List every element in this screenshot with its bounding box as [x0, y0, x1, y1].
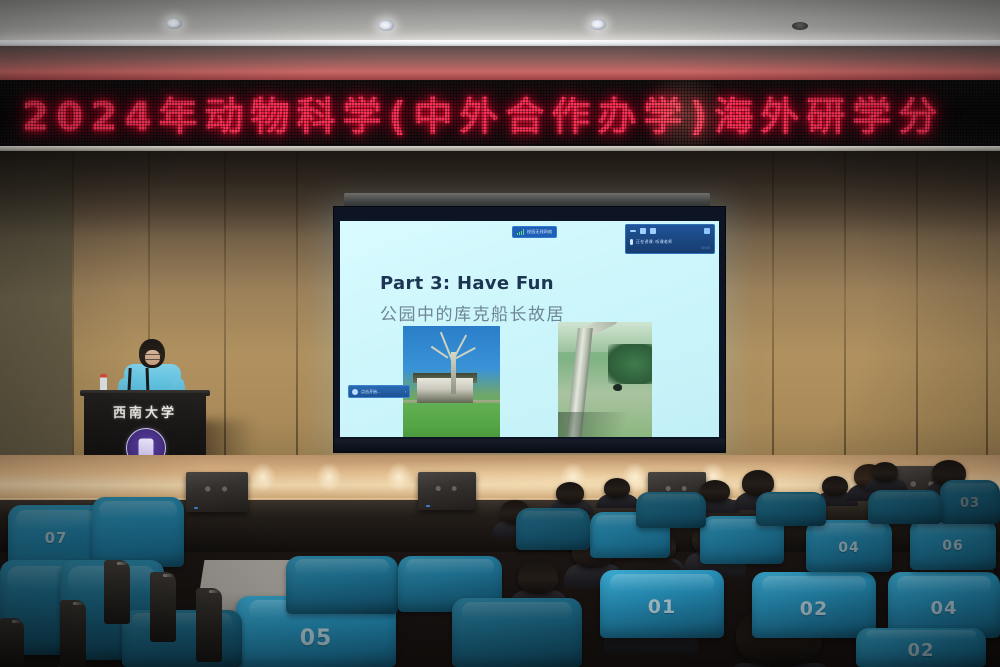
seat-number: 02	[856, 640, 986, 661]
meeting-control-panel[interactable]: 正在讲课: 听课老师 00:00	[625, 224, 715, 254]
seat-armrest	[150, 572, 176, 642]
ceiling	[0, 0, 1000, 44]
downlight-icon	[378, 20, 394, 31]
meeting-status-label: 正在讲课: 听课老师	[636, 239, 672, 245]
downlight-icon	[166, 18, 182, 29]
meeting-timer: 00:00	[701, 246, 710, 250]
auditorium-seat[interactable]: 03	[940, 480, 1000, 524]
audience-head	[518, 560, 558, 594]
stage-monitor-speaker	[418, 472, 476, 510]
auditorium-seat[interactable]	[868, 490, 942, 524]
soffit-red-glow	[0, 46, 1000, 82]
speaker-led-icon	[194, 507, 198, 509]
auditorium-seat[interactable]: 02	[856, 628, 986, 667]
photo-bird	[613, 384, 622, 391]
seat-number: 01	[600, 596, 724, 618]
seat-number: 04	[888, 598, 1000, 619]
minimize-icon[interactable]	[630, 230, 636, 232]
auditorium-seat[interactable]	[92, 497, 184, 567]
network-badge-label: 校园无线网络	[527, 229, 552, 235]
slide-photo-tree-bird	[558, 322, 652, 437]
slide-photo-cottage	[403, 326, 500, 437]
auditorium-seat[interactable]	[636, 492, 706, 528]
glasses-icon	[144, 354, 161, 360]
slide-subtitle: 公园中的库克船长故居	[380, 300, 565, 325]
floating-action-pill[interactable]: 点击开始... ›	[348, 385, 410, 398]
seat-number: 02	[752, 598, 876, 620]
screen-housing	[344, 193, 710, 207]
lecture-hall-photo: 2024年动物科学(中外合作办学)海外研学分 校园无线网络	[0, 0, 1000, 667]
auditorium-seat[interactable]	[122, 610, 242, 667]
auditorium-seat[interactable]	[286, 556, 398, 614]
slide-title: Part 3: Have Fun	[380, 273, 554, 294]
close-icon[interactable]	[650, 228, 656, 234]
network-status-badge: 校园无线网络	[512, 226, 557, 238]
auditorium-seat[interactable]: 04	[806, 520, 892, 572]
seat-number: 07	[8, 529, 104, 547]
seat-number: 03	[940, 496, 1000, 511]
audience-head	[872, 462, 898, 482]
chevron-right-icon[interactable]: ›	[405, 389, 406, 394]
led-banner-text: 2024年动物科学(中外合作办学)海外研学分	[22, 86, 944, 142]
seat-number: 06	[910, 538, 996, 554]
speaker-led-icon	[426, 505, 430, 507]
maximize-icon[interactable]	[640, 228, 646, 234]
microphone-icon[interactable]	[630, 239, 633, 245]
auditorium-seat[interactable]	[452, 598, 582, 667]
signal-bars-icon	[517, 229, 524, 235]
photo-cottage	[417, 378, 473, 404]
floating-pill-label: 点击开始...	[361, 389, 380, 395]
seat-armrest	[104, 560, 130, 624]
auditorium-seat[interactable]: 01	[600, 570, 724, 638]
downlight-icon	[590, 19, 606, 30]
auditorium-seat[interactable]	[756, 492, 826, 526]
photo-lawn	[403, 403, 500, 437]
audience-head	[604, 478, 630, 498]
photo-ground-shadow	[558, 412, 652, 437]
ceiling-vent-icon	[792, 22, 808, 30]
seat-armrest	[196, 588, 222, 662]
audience-head	[822, 476, 848, 496]
auditorium-seat[interactable]	[516, 508, 590, 550]
auditorium-seat[interactable]: 06	[910, 518, 996, 570]
seat-number: 05	[236, 626, 396, 651]
window-controls[interactable]	[630, 228, 656, 234]
seat-number: 04	[806, 540, 892, 556]
meeting-status-row: 正在讲课: 听课老师	[630, 239, 672, 245]
stage-monitor-speaker	[186, 472, 248, 512]
slide-surface: 校园无线网络 正在讲课: 听课老师 00:00 Part 3: Have Fun…	[340, 221, 719, 437]
seat-armrest	[60, 600, 86, 667]
led-banner: 2024年动物科学(中外合作办学)海外研学分	[0, 80, 1000, 148]
audience-head	[556, 482, 584, 504]
photo-shrub	[608, 344, 652, 384]
more-options-icon[interactable]	[704, 228, 710, 234]
auditorium-seat[interactable]: 02	[752, 572, 876, 638]
seat-armrest	[0, 618, 24, 667]
projection-screen[interactable]: 校园无线网络 正在讲课: 听课老师 00:00 Part 3: Have Fun…	[333, 206, 726, 453]
podium-institution-name: 西南大学	[98, 402, 192, 421]
screen-bottom-bar	[334, 439, 725, 452]
record-dot-icon	[352, 389, 358, 395]
